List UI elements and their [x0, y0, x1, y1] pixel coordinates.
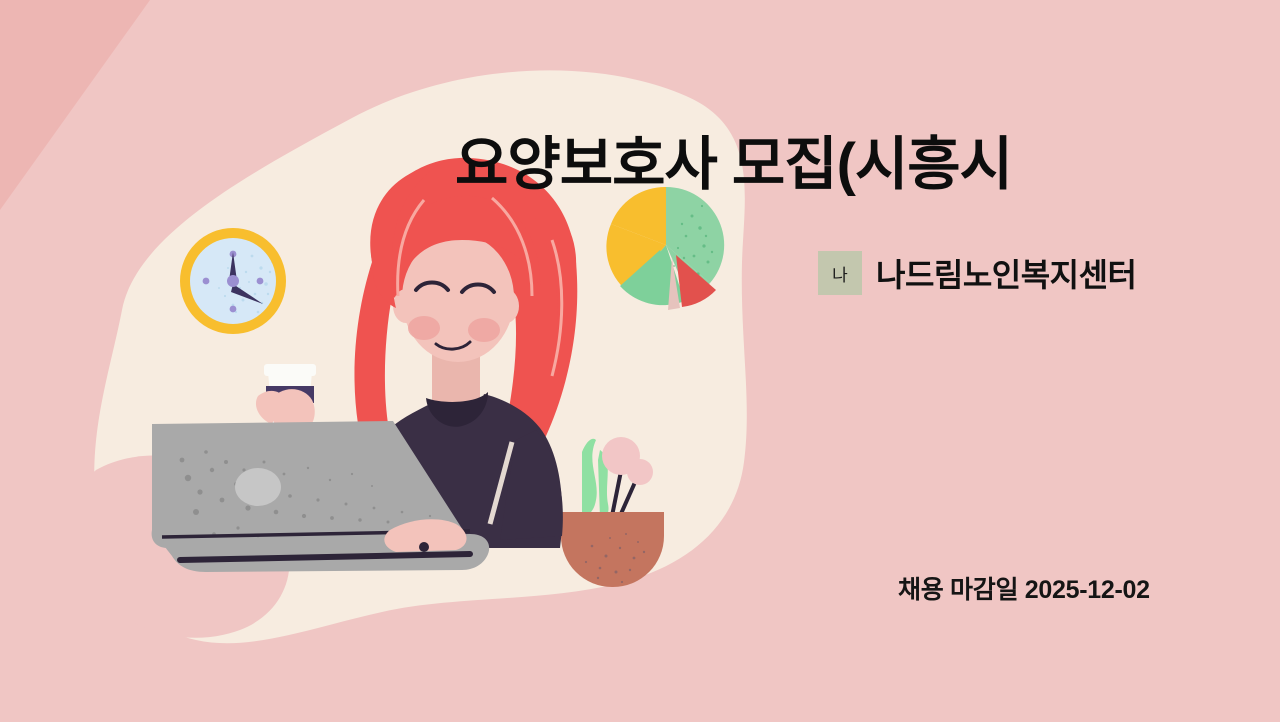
page-title: 요양보호사 모집(시흥시	[455, 131, 1165, 199]
wall-clock	[180, 228, 286, 334]
company-logo-badge: 나	[818, 251, 862, 295]
cup-lid	[264, 364, 316, 376]
cheek-right	[468, 318, 500, 342]
laptop-logo	[235, 468, 281, 506]
application-deadline: 채용 마감일 2025-12-02	[898, 570, 1150, 606]
clock-marker-6	[230, 306, 237, 313]
job-posting-poster: 요양보호사 모집(시흥시 나 나드림노인복지센터 채용 마감일 2025-12-…	[0, 0, 1280, 722]
company-row: 나 나드림노인복지센터	[818, 250, 1136, 296]
flower-blossom-small	[627, 459, 653, 485]
clock-marker-3	[257, 278, 264, 285]
cheek-left	[408, 316, 440, 340]
ear-right	[493, 289, 519, 323]
clock-marker-9	[203, 278, 210, 285]
clock-center	[227, 275, 239, 287]
illustration-artwork	[0, 0, 1280, 722]
company-name: 나드림노인복지센터	[876, 250, 1136, 296]
